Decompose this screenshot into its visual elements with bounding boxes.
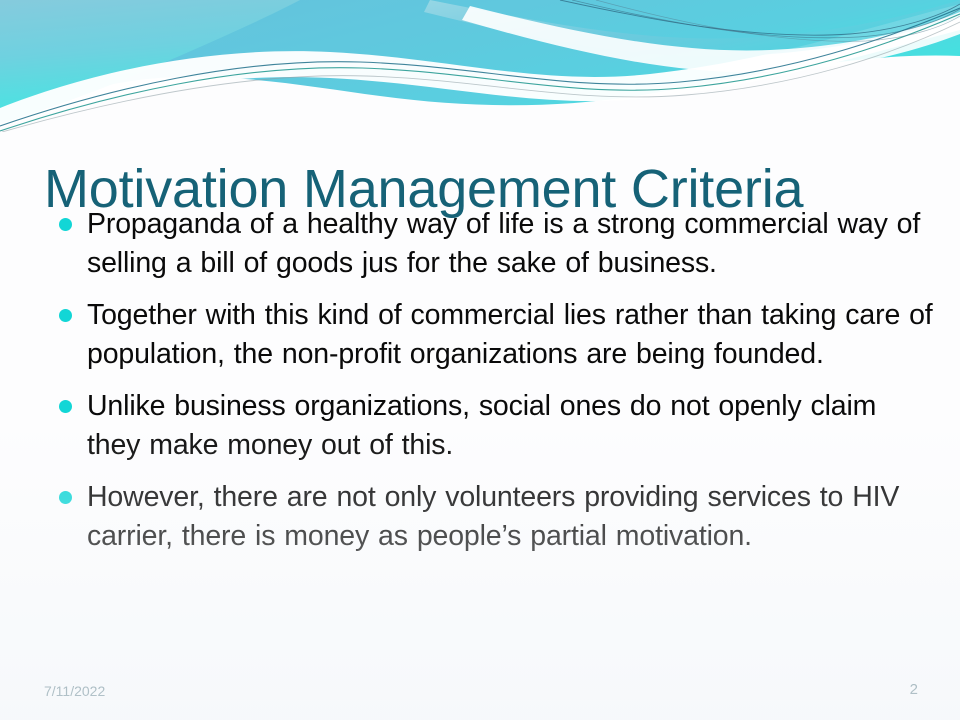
footer-date: 7/11/2022 bbox=[44, 682, 105, 700]
bullet-marker-icon bbox=[59, 491, 72, 504]
bullet-list-item: Together with this kind of commercial li… bbox=[56, 296, 936, 374]
bullet-item-text: Together with this kind of commercial li… bbox=[87, 299, 933, 370]
slide-body-bullet-list: Propaganda of a healthy way of life is a… bbox=[56, 205, 936, 556]
bullet-list-item: However, there are not only volunteers p… bbox=[56, 478, 936, 556]
bullet-marker-icon bbox=[59, 309, 72, 322]
bullet-marker-icon bbox=[59, 400, 72, 413]
bullet-marker-icon bbox=[59, 218, 72, 231]
presentation-slide: Motivation Management Criteria Propagand… bbox=[0, 0, 960, 720]
bullet-item-text: Unlike business organizations, social on… bbox=[87, 390, 876, 461]
bullet-item-text: However, there are not only volunteers p… bbox=[87, 481, 899, 552]
bullet-list-item: Unlike business organizations, social on… bbox=[56, 387, 936, 465]
bullet-item-text: Propaganda of a healthy way of life is a… bbox=[87, 208, 920, 279]
bullet-list-item: Propaganda of a healthy way of life is a… bbox=[56, 205, 936, 283]
footer-slide-number: 2 bbox=[910, 681, 918, 699]
wave-decoration-banner bbox=[0, 0, 960, 132]
